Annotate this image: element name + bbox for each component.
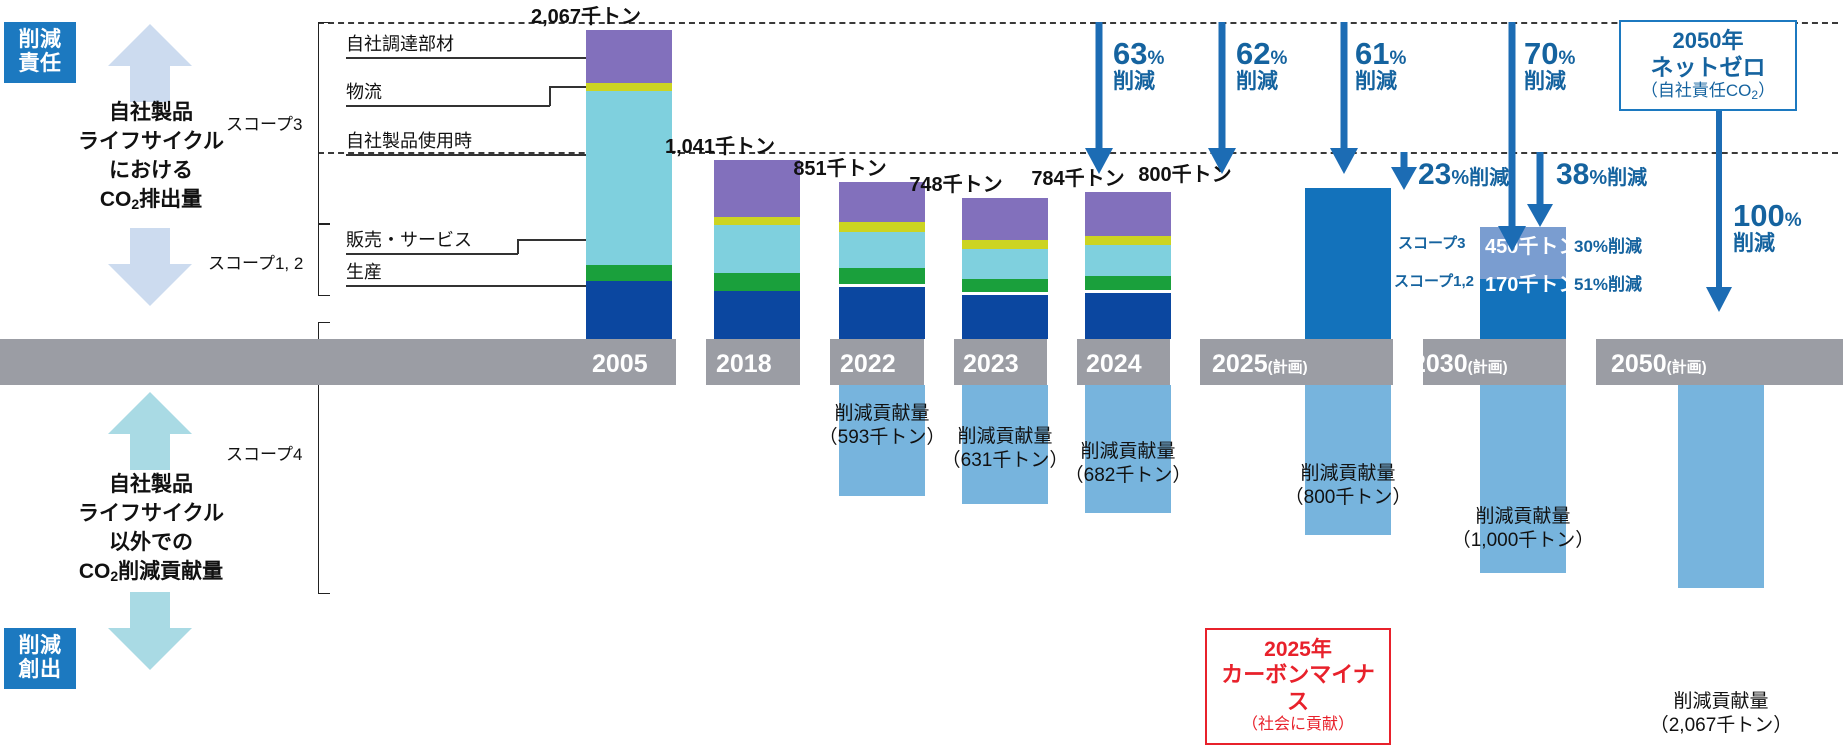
bar-2023-logistics: [962, 240, 1048, 249]
scope12-label: スコープ1, 2: [208, 249, 303, 274]
reduction-pct-2018base-2025: 23%削減: [1418, 158, 1509, 192]
netzero-line1: 2050年: [1631, 28, 1785, 54]
chevron-sep-7: [1566, 339, 1596, 385]
arrow-down-icon: [106, 228, 194, 308]
badge-reduction-creation: 削減 創出: [4, 628, 76, 689]
timeline-year-2025[interactable]: 2025(計画): [1212, 350, 1308, 379]
chevron-sep-3: [924, 339, 954, 385]
reduction-arrow-2030: [1498, 22, 1526, 252]
left-lower-title-line1: 自社製品: [26, 470, 276, 499]
netzero-line2: ネットゼロ: [1631, 54, 1785, 81]
reduction-arrow-2025: [1330, 22, 1358, 174]
contrib-label-2030: 削減貢献量 （1,000千トン）: [1413, 505, 1633, 553]
left-upper-title-line4: CO2排出量: [26, 185, 276, 216]
arrow-up-icon-lower: [106, 390, 194, 470]
reduction-pct-2023-unit: %: [1147, 48, 1164, 69]
left-lower-title-line4: CO2削減貢献量: [26, 557, 276, 588]
reduction-2030-scope12: 51%削減: [1574, 270, 1642, 295]
legend-label-logistics: 物流: [346, 78, 382, 104]
bar-2024-procured: [1085, 192, 1171, 236]
bar-2022-sales-service: [839, 268, 925, 284]
contrib-title-2030: 削減貢献量: [1413, 505, 1633, 529]
label-2030-scope12: スコープ1,2: [1394, 270, 1474, 291]
bar-2005-product-use: [586, 91, 672, 265]
contrib-label-2024: 削減貢献量 （682千トン）: [1018, 440, 1238, 488]
legend-label-product-use: 自社製品使用時: [346, 127, 472, 153]
contrib-value-2030: （1,000千トン）: [1413, 529, 1633, 553]
legend-leader-sales-v: [517, 239, 519, 254]
reduction-pct-2050-label: 削減: [1733, 233, 1802, 255]
reduction-pct-2024-value: 62: [1236, 36, 1270, 71]
bar-2018-production: [714, 291, 800, 339]
arrow-up-icon: [106, 22, 194, 102]
badge-reduction-responsibility-line1: 削減: [14, 28, 66, 52]
reduction-pct-2025: 61% 削減: [1355, 38, 1406, 93]
carbon-minus-callout: 2025年 カーボンマイナス （社会に貢献）: [1205, 628, 1391, 745]
badge-reduction-responsibility: 削減 責任: [4, 22, 76, 83]
carbon-minus-line1: 2025年: [1219, 637, 1377, 662]
scope4-label: スコープ4: [226, 440, 302, 465]
bar-2005-sales-service: [586, 265, 672, 281]
reduction-pct-2023-label: 削減: [1113, 71, 1164, 93]
netzero-callout: 2050年 ネットゼロ （自社責任CO2）: [1619, 20, 1797, 111]
label-2030-scope3: スコープ3: [1398, 232, 1465, 253]
timeline-year-2005[interactable]: 2005: [592, 350, 648, 379]
legend-label-sales-service: 販売・サービス: [346, 226, 472, 252]
bar-2022-logistics: [839, 222, 925, 232]
contrib-title-2050: 削減貢献量: [1611, 690, 1831, 714]
scope3-bracket: [318, 22, 330, 224]
legend-leader-logistics-h1: [346, 105, 550, 107]
reduction-pct-2018base-2025-unit: %削減: [1451, 167, 1509, 189]
chevron-sep-2: [800, 339, 830, 385]
bar-2018-sales-service: [714, 273, 800, 291]
bar-2023-procured: [962, 198, 1048, 240]
bar-2024-product-use: [1085, 245, 1171, 276]
timeline-year-2030-note: (計画): [1468, 359, 1508, 376]
legend-leader-logistics-v: [549, 86, 551, 106]
left-lower-title-line2: ライフサイクル: [26, 499, 276, 528]
legend-leader-sales-h2: [517, 239, 587, 241]
contrib-label-2025: 削減貢献量 （800千トン）: [1238, 462, 1458, 510]
bar-2024-sales-service: [1085, 276, 1171, 290]
timeline-year-2018[interactable]: 2018: [716, 350, 772, 379]
reduction-pct-2030: 70% 削減: [1524, 38, 1575, 93]
reduction-pct-2025-label: 削減: [1355, 71, 1406, 93]
bar-total-2005: 2,067千トン: [478, 0, 694, 29]
timeline-year-2023[interactable]: 2023: [963, 350, 1019, 379]
reduction-arrow-2018base-2030: [1527, 152, 1553, 227]
carbon-minus-line3: （社会に貢献）: [1219, 715, 1377, 734]
timeline-year-2025-note: (計画): [1268, 359, 1308, 376]
reduction-pct-2050-unit: %: [1785, 210, 1802, 231]
chevron-sep-1: [676, 339, 706, 385]
legend-leader-production: [346, 285, 586, 287]
legend-leader-product-use: [346, 154, 586, 156]
carbon-minus-line2: カーボンマイナス: [1219, 662, 1377, 715]
reduction-pct-2018base-2025-value: 23: [1418, 158, 1451, 191]
timeline-year-2050-label: 2050: [1611, 350, 1667, 378]
contrib-title-2024: 削減貢献量: [1018, 440, 1238, 464]
timeline-year-2024[interactable]: 2024: [1086, 350, 1142, 379]
scope3-label: スコープ3: [226, 110, 302, 135]
legend-label-procured: 自社調達部材: [346, 30, 454, 56]
timeline-year-2025-label: 2025: [1212, 350, 1268, 378]
reduction-pct-2023-value: 63: [1113, 36, 1147, 71]
chevron-sep-4: [1047, 339, 1077, 385]
contrib-title-2025: 削減貢献量: [1238, 462, 1458, 486]
reduction-pct-2025-value: 61: [1355, 36, 1389, 71]
bar-2018-logistics: [714, 217, 800, 225]
reduction-pct-2018base-2030: 38%削減: [1556, 158, 1647, 192]
netzero-line3: （自社責任CO2）: [1631, 81, 1785, 101]
bar-2022-product-use: [839, 232, 925, 268]
contrib-label-2050: 削減貢献量 （2,067千トン）: [1611, 690, 1831, 738]
reduction-pct-2030-unit: %: [1558, 48, 1575, 69]
bar-2025-plan-total: [1305, 188, 1391, 339]
contrib-value-2050: （2,067千トン）: [1611, 714, 1831, 738]
badge-reduction-creation-line2: 創出: [14, 658, 66, 682]
reduction-pct-2018base-2030-unit: %削減: [1589, 167, 1647, 189]
bar-2005-production: [586, 281, 672, 339]
bar-2005-procured: [586, 30, 672, 83]
reduction-pct-2023: 63% 削減: [1113, 38, 1164, 93]
reduction-2030-scope3: 30%削減: [1574, 232, 1642, 257]
contrib-title-2022: 削減貢献量: [772, 402, 992, 426]
bar-2024-production: [1085, 293, 1171, 339]
timeline-year-2030-label: 2030: [1412, 350, 1468, 378]
reduction-pct-2024-unit: %: [1270, 48, 1287, 69]
reduction-arrow-2023: [1085, 22, 1113, 174]
bar-2023-sales-service: [962, 279, 1048, 292]
contrib-bar-2025: [1305, 385, 1391, 535]
timeline-year-2030[interactable]: 2030(計画): [1412, 350, 1508, 379]
reduction-arrow-2018base-2025: [1391, 152, 1417, 190]
reduction-pct-2030-value: 70: [1524, 36, 1558, 71]
bar-2023-product-use: [962, 249, 1048, 279]
left-lower-title: 自社製品 ライフサイクル 以外での CO2削減貢献量: [26, 470, 276, 588]
bar-2023-production: [962, 295, 1048, 339]
reduction-pct-2025-unit: %: [1389, 48, 1406, 69]
badge-reduction-responsibility-line2: 責任: [14, 52, 66, 76]
bar-2024-logistics: [1085, 236, 1171, 245]
legend-label-production: 生産: [346, 258, 382, 284]
bar-2018-product-use: [714, 225, 800, 273]
timeline-year-2022[interactable]: 2022: [840, 350, 896, 379]
reduction-pct-2024: 62% 削減: [1236, 38, 1287, 93]
reduction-pct-2050: 100% 削減: [1733, 200, 1802, 255]
bar-2005-logistics: [586, 83, 672, 91]
left-upper-title-line3: における: [26, 156, 276, 185]
reduction-pct-2030-label: 削減: [1524, 71, 1575, 93]
value-2030-scope12: 170千トン: [1485, 268, 1578, 297]
bar-2022-production: [839, 287, 925, 339]
legend-leader-logistics-h2: [549, 86, 587, 88]
legend-leader-procured: [346, 57, 586, 59]
chevron-sep-5: [1170, 339, 1200, 385]
chart-canvas: 削減 責任 自社製品 ライフサイクル における CO2排出量 自社製品 ライフサ…: [0, 0, 1843, 756]
timeline-year-2050-note: (計画): [1667, 359, 1707, 376]
reduction-pct-2018base-2030-value: 38: [1556, 158, 1589, 191]
reduction-pct-2050-value: 100: [1733, 198, 1785, 233]
timeline-year-2050[interactable]: 2050(計画): [1611, 350, 1707, 379]
legend-leader-sales-h1: [346, 253, 518, 255]
left-lower-title-line3: 以外での: [26, 528, 276, 557]
reduction-arrow-2024: [1208, 22, 1236, 174]
contrib-bar-2050: [1678, 385, 1764, 588]
scope12-bracket: [318, 224, 330, 296]
arrow-down-icon-lower: [106, 592, 194, 672]
reduction-pct-2024-label: 削減: [1236, 71, 1287, 93]
badge-reduction-creation-line1: 削減: [14, 634, 66, 658]
contrib-value-2024: （682千トン）: [1018, 464, 1238, 488]
